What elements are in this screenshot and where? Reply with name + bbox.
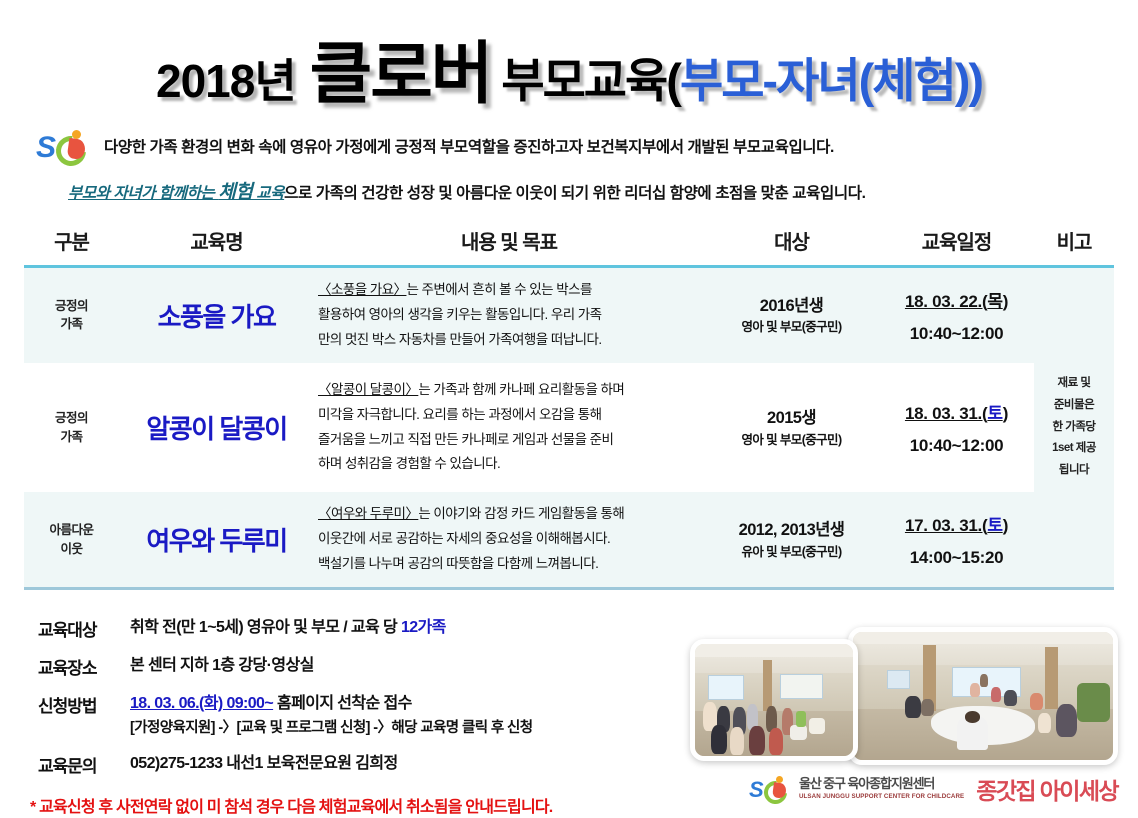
footer-brand-name: 종갓집 아이세상	[976, 772, 1118, 806]
cell-schedule: 18. 03. 22.(목) 10:40~12:00	[879, 267, 1034, 363]
schedule-time: 10:40~12:00	[883, 324, 1030, 344]
footer-center-logo: S 울산 중구 육아종합지원센터 ULSAN JUNGGU SUPPORT CE…	[749, 772, 1118, 806]
footer-logo-s-glyph: S	[749, 779, 764, 801]
cell-program-name: 알콩이 달콩이	[119, 363, 314, 492]
info-row-contact: 교육문의 052)275-1233 내선1 보육전문요원 김희정	[38, 752, 698, 777]
remark-line-4: 1set 제공	[1052, 442, 1096, 454]
schedule-time: 14:00~15:20	[883, 548, 1030, 568]
lead2-highlight-big: 체험	[218, 182, 252, 203]
date-close: )	[1003, 404, 1008, 423]
desc-line-4: 하며 성취감을 경험할 수 있습니다.	[318, 456, 500, 471]
title-suffix-blue: 부모-자녀(체험)	[680, 42, 968, 111]
footer-org-name-korean: 울산 중구 육아종합지원센터	[799, 777, 964, 791]
lead-line-2: 부모와 자녀가 함께하는 체험 교육으로 가족의 건강한 성장 및 아름다운 이…	[68, 177, 1138, 204]
desc-title: 〈알콩이 달콩이〉	[318, 382, 418, 397]
table-row: 긍정의 가족 소풍을 가요 〈소풍을 가요〉는 주변에서 흔히 볼 수 있는 박…	[24, 267, 1114, 363]
title-suffix-close: )	[968, 53, 982, 108]
target-birth-year: 2016년생	[708, 294, 875, 319]
cell-remark	[1034, 492, 1114, 588]
info-block: 교육대상 취학 전(만 1~5세) 영유아 및 부모 / 교육 당 12가족 교…	[38, 616, 698, 777]
title-suffix-black: 부모교육(	[501, 42, 680, 111]
desc-line-3: 즐거움을 느끼고 직접 만든 카나페로 게임과 선물을 준비	[318, 432, 613, 447]
footer-logo-text-block: 울산 중구 육아종합지원센터 ULSAN JUNGGU SUPPORT CENT…	[799, 777, 964, 800]
lead2-highlight-a: 부모와 자녀가 함께하는	[68, 185, 218, 202]
info-value-contact: 052)275-1233 내선1 보육전문요원 김희정	[130, 752, 398, 775]
lead-paragraph-row: S 다양한 가족 환경의 변화 속에 영유아 가정에게 긍정적 부모역할을 증진…	[36, 129, 1138, 163]
date-dayofweek: 토	[987, 516, 1002, 535]
col-header-kind: 구분	[24, 220, 119, 267]
apply-path: [가정양육지원] -〉[교육 및 프로그램 신청] -〉해당 교육명 클릭 후 …	[130, 718, 533, 739]
program-photo-2	[848, 627, 1118, 765]
remark-line-1: 재료 및	[1058, 377, 1091, 389]
lead-line-1: 다양한 가족 환경의 변화 속에 영유아 가정에게 긍정적 부모역할을 증진하고…	[104, 135, 834, 157]
photo-gallery	[690, 627, 1120, 759]
cell-kind: 긍정의 가족	[24, 363, 119, 492]
cell-program-name: 소풍을 가요	[119, 267, 314, 363]
info-label-location: 교육장소	[38, 654, 130, 679]
cell-target: 2012, 2013년생 유아 및 부모(중구민)	[704, 492, 879, 588]
table-row: 아름다운 이웃 여우와 두루미 〈여우와 두루미〉는 이야기와 감정 카드 게임…	[24, 492, 1114, 588]
desc-title: 〈소풍을 가요〉	[318, 282, 406, 297]
kind-line-1: 긍정의	[55, 299, 88, 313]
remark-line-3: 한 가족당	[1052, 421, 1095, 433]
remark-line-5: 됩니다	[1059, 464, 1089, 476]
desc-line-3: 백설기를 나누며 공감의 따뜻함을 다함께 느껴봅니다.	[318, 556, 598, 571]
date-main: 18. 03. 22.(	[905, 292, 987, 311]
kind-line-1: 아름다운	[49, 523, 93, 537]
date-dayofweek: 토	[987, 404, 1002, 423]
info-label-apply: 신청방법	[38, 692, 130, 717]
logo-s-glyph: S	[36, 133, 56, 163]
photo-1-scene	[695, 644, 853, 756]
info-label-contact: 교육문의	[38, 752, 130, 777]
desc-title: 〈여우와 두루미〉	[318, 506, 418, 521]
apply-open-datetime: 18. 03. 06.(화) 09:00~	[130, 695, 273, 712]
schedule-time: 10:40~12:00	[883, 436, 1030, 456]
kind-line-2: 가족	[60, 317, 82, 331]
col-header-name: 교육명	[119, 220, 314, 267]
photo-1-projector-screen	[708, 675, 745, 699]
table-header-row: 구분 교육명 내용 및 목표 대상 교육일정 비고	[24, 220, 1114, 267]
footer-sc-logo-icon: S	[749, 776, 791, 802]
title-year: 2018년	[156, 45, 296, 111]
info-label-target: 교육대상	[38, 616, 130, 641]
kind-line-1: 긍정의	[55, 411, 88, 425]
logo-orange-dot	[72, 130, 81, 139]
page-title: 2018년 클로버 부모교육( 부모-자녀(체험) )	[0, 0, 1138, 117]
cell-target: 2015생 영아 및 부모(중구민)	[704, 363, 879, 492]
table-row: 긍정의 가족 알콩이 달콩이 〈알콩이 달콩이〉는 가족과 함께 카나페 요리활…	[24, 363, 1114, 492]
target-detail: 영아 및 부모(중구민)	[708, 318, 875, 337]
cell-program-name: 여우와 두루미	[119, 492, 314, 588]
apply-method: 홈페이지 선착순 접수	[273, 695, 412, 712]
info-row-location: 교육장소 본 센터 지하 1층 강당·영상실	[38, 654, 698, 679]
schedule-date: 18. 03. 31.(토)	[883, 399, 1030, 424]
cell-schedule: 18. 03. 31.(토) 10:40~12:00	[879, 363, 1034, 492]
info-value-target: 취학 전(만 1~5세) 영유아 및 부모 / 교육 당 12가족	[130, 616, 446, 639]
schedule-date: 18. 03. 22.(목)	[883, 287, 1030, 312]
remark-line-2: 준비물은	[1054, 399, 1094, 411]
desc-line-2: 활용하여 영아의 생각을 키우는 활동입니다. 우리 가족	[318, 307, 602, 322]
kind-line-2: 가족	[60, 430, 82, 444]
cell-kind: 긍정의 가족	[24, 267, 119, 363]
cell-description: 〈소풍을 가요〉는 주변에서 흔히 볼 수 있는 박스를 활용하여 영아의 생각…	[314, 267, 704, 363]
date-close: )	[1003, 516, 1008, 535]
center-logo-icon: S	[36, 129, 92, 163]
info-target-text: 취학 전(만 1~5세) 영유아 및 부모 / 교육 당	[130, 619, 401, 636]
program-schedule-table: 구분 교육명 내용 및 목표 대상 교육일정 비고 긍정의 가족 소풍을 가요 …	[24, 220, 1114, 590]
desc-line-1: 는 가족과 함께 카나페 요리활동을 하며	[418, 382, 624, 397]
title-program-name: 클로버	[310, 18, 492, 117]
footer-logo-orange-dot	[776, 776, 783, 783]
info-value-apply: 18. 03. 06.(화) 09:00~ 홈페이지 선착순 접수[가정양육지원…	[130, 692, 533, 739]
info-value-location: 본 센터 지하 1층 강당·영상실	[130, 654, 314, 677]
schedule-date: 17. 03. 31.(토)	[883, 511, 1030, 536]
target-detail: 유아 및 부모(중구민)	[708, 543, 875, 562]
lead2-highlight-b: 교육	[253, 185, 285, 202]
desc-line-1: 는 주변에서 흔히 볼 수 있는 박스를	[406, 282, 591, 297]
cell-schedule: 17. 03. 31.(토) 14:00~15:20	[879, 492, 1034, 588]
cell-remark	[1034, 267, 1114, 363]
cell-description: 〈알콩이 달콩이〉는 가족과 함께 카나페 요리활동을 하며 미각을 자극합니다…	[314, 363, 704, 492]
col-header-content: 내용 및 목표	[314, 220, 704, 267]
target-birth-year: 2012, 2013년생	[708, 518, 875, 543]
col-header-target: 대상	[704, 220, 879, 267]
program-photo-1	[690, 639, 858, 761]
footer-org-name-english: ULSAN JUNGGU SUPPORT CENTER FOR CHILDCAR…	[799, 794, 964, 801]
col-header-date: 교육일정	[879, 220, 1034, 267]
info-row-target: 교육대상 취학 전(만 1~5세) 영유아 및 부모 / 교육 당 12가족	[38, 616, 698, 641]
desc-line-3: 만의 멋진 박스 자동차를 만들어 가족여행을 떠납니다.	[318, 332, 602, 347]
photo-2-scene	[853, 632, 1113, 760]
target-detail: 영아 및 부모(중구민)	[708, 431, 875, 450]
date-main: 17. 03. 31.(	[905, 516, 987, 535]
info-target-count: 12가족	[401, 619, 446, 636]
lead2-rest: 으로 가족의 건강한 성장 및 아름다운 이웃이 되기 위한 리더십 함양에 초…	[284, 185, 865, 202]
info-row-apply: 신청방법 18. 03. 06.(화) 09:00~ 홈페이지 선착순 접수[가…	[38, 692, 698, 739]
desc-line-1: 는 이야기와 감정 카드 게임활동을 통해	[418, 506, 624, 521]
cell-kind: 아름다운 이웃	[24, 492, 119, 588]
date-main: 18. 03. 31.(	[905, 404, 987, 423]
cell-remark: 재료 및 준비물은 한 가족당 1set 제공 됩니다	[1034, 363, 1114, 492]
col-header-remark: 비고	[1034, 220, 1114, 267]
desc-line-2: 이웃간에 서로 공감하는 자세의 중요성을 이해해봅시다.	[318, 531, 610, 546]
cell-description: 〈여우와 두루미〉는 이야기와 감정 카드 게임활동을 통해 이웃간에 서로 공…	[314, 492, 704, 588]
desc-line-2: 미각을 자극합니다. 요리를 하는 과정에서 오감을 통해	[318, 407, 602, 422]
kind-line-2: 이웃	[60, 542, 82, 556]
date-close: )	[1003, 292, 1008, 311]
target-birth-year: 2015생	[708, 406, 875, 431]
cell-target: 2016년생 영아 및 부모(중구민)	[704, 267, 879, 363]
date-dayofweek: 목	[987, 292, 1002, 311]
